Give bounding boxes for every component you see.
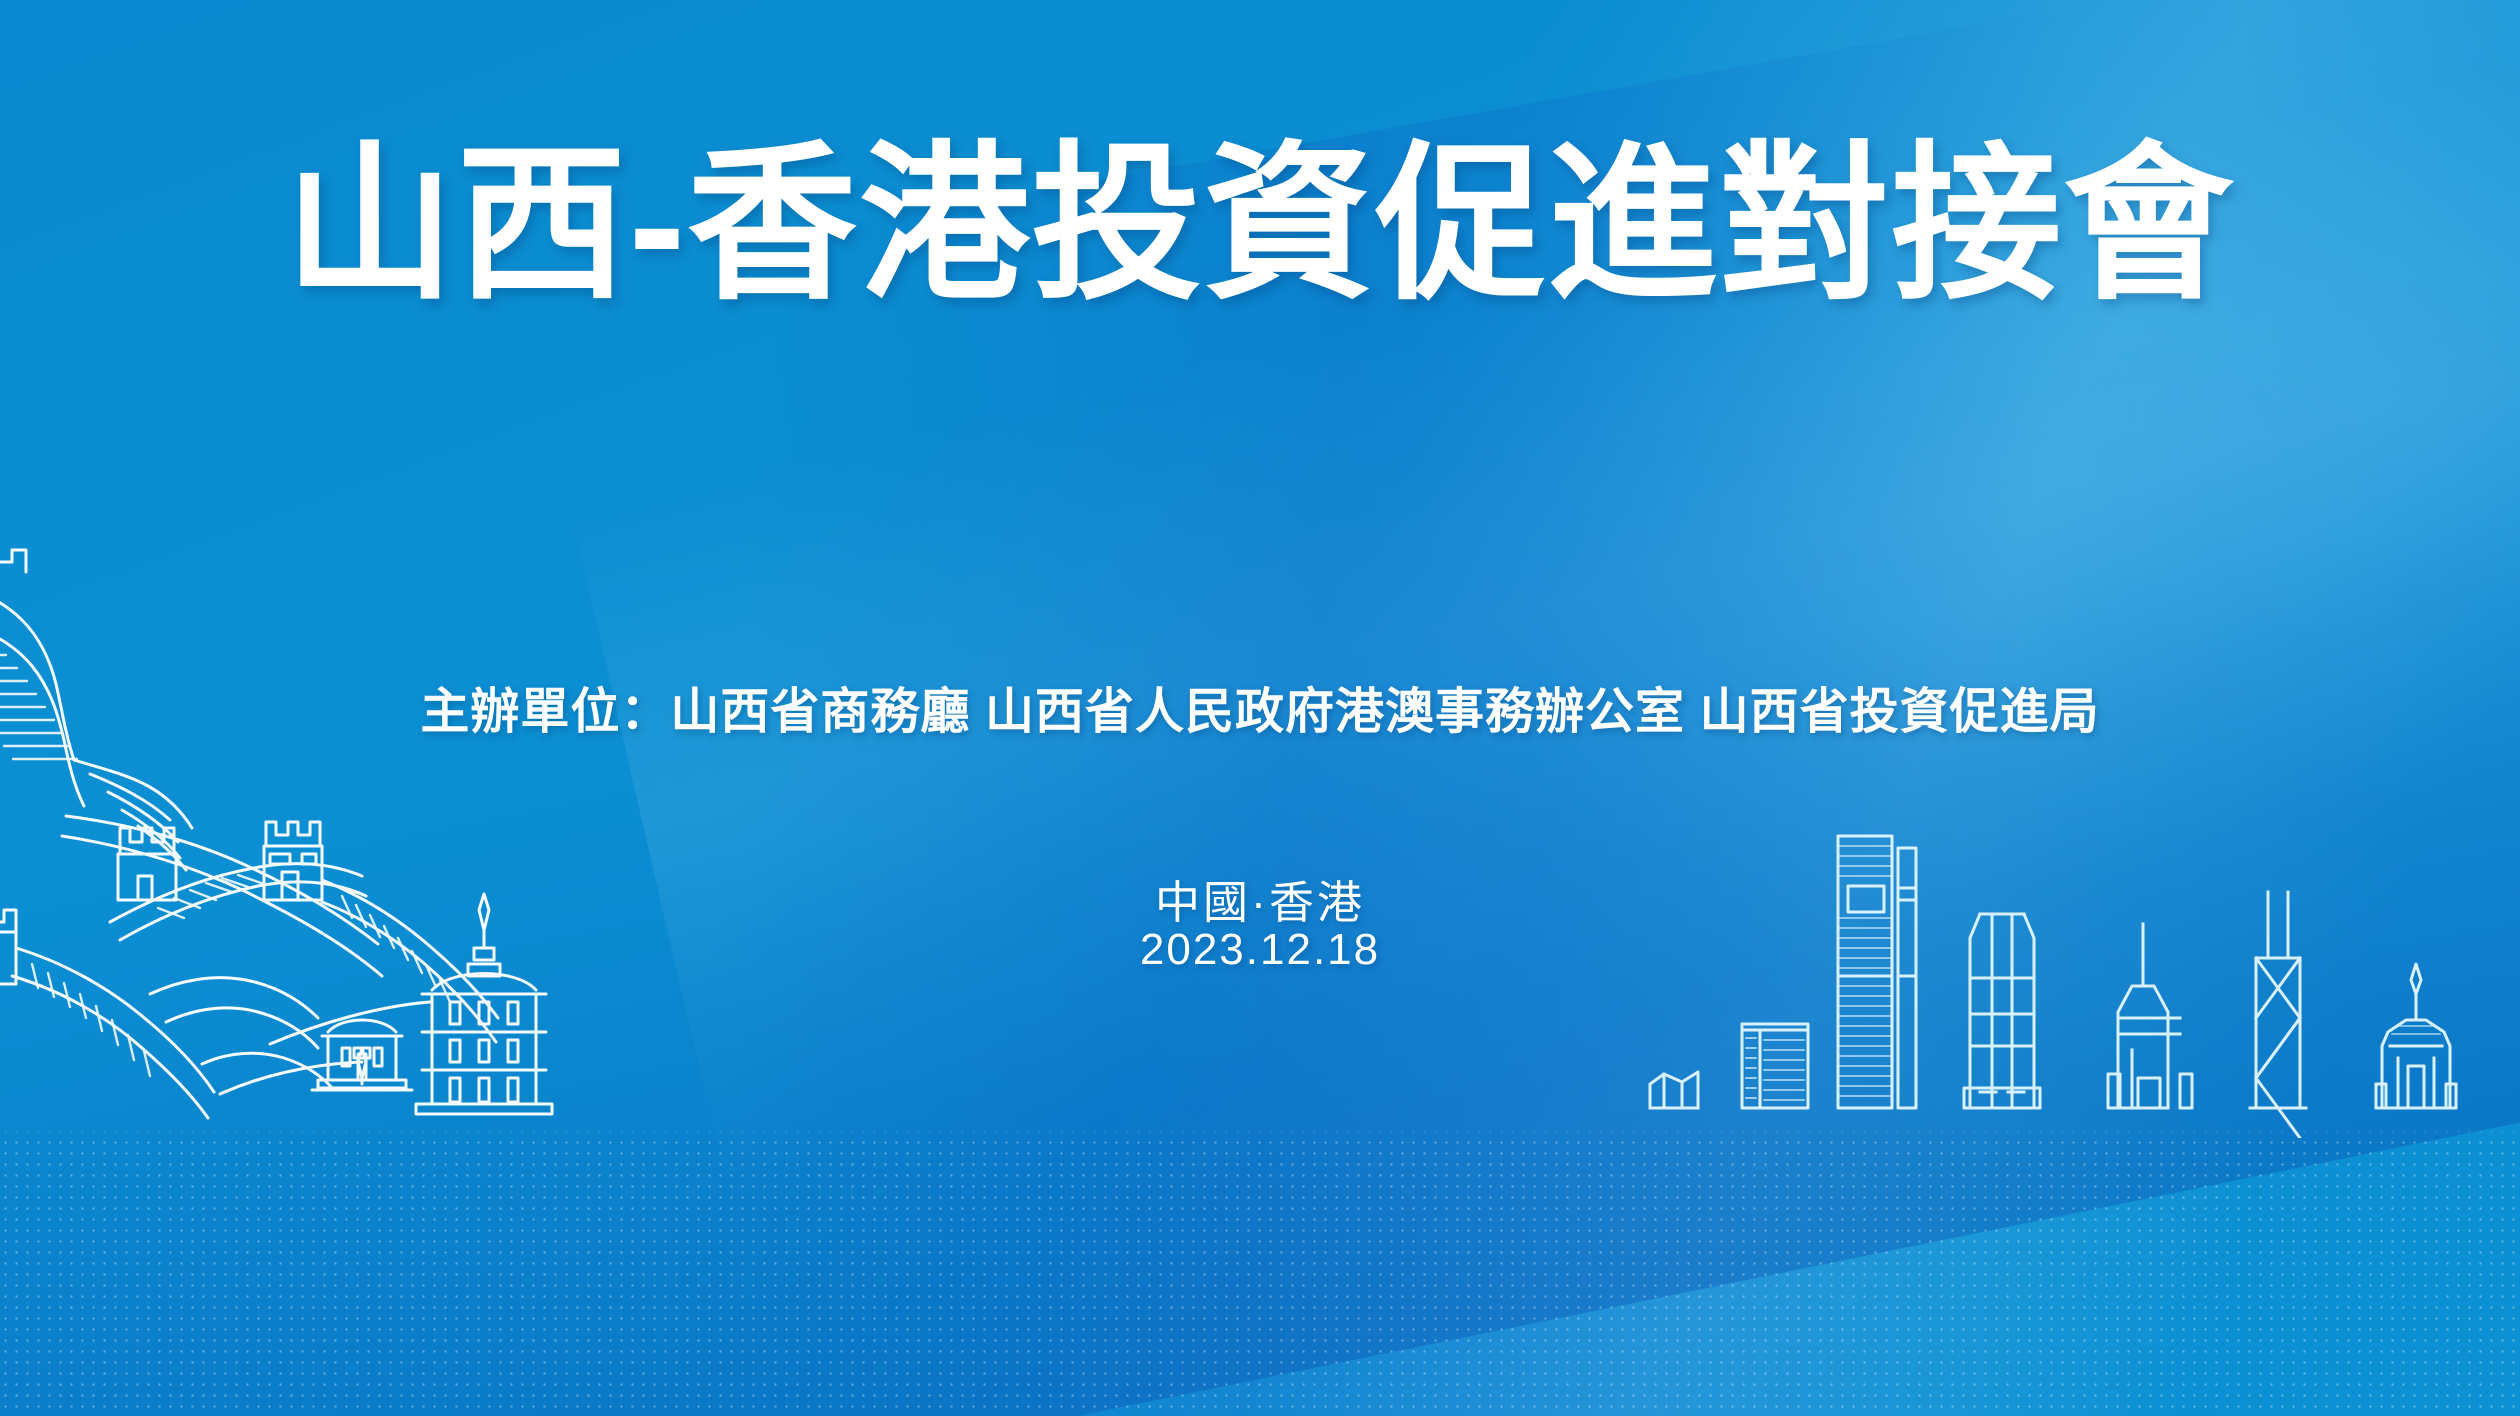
event-location: 中國·香港 (0, 866, 2520, 931)
organizers-line: 主辦單位：山西省商務廳 山西省人民政府港澳事務辦公室 山西省投資促進局 (0, 672, 2520, 743)
poster-canvas: 山西-香港投資促進對接會 主辦單位：山西省商務廳 山西省人民政府港澳事務辦公室 … (0, 0, 2520, 1416)
event-date: 2023.12.18 (0, 925, 2520, 975)
great-wall-illustration (0, 524, 670, 1134)
page-title: 山西-香港投資促進對接會 (0, 130, 2520, 320)
